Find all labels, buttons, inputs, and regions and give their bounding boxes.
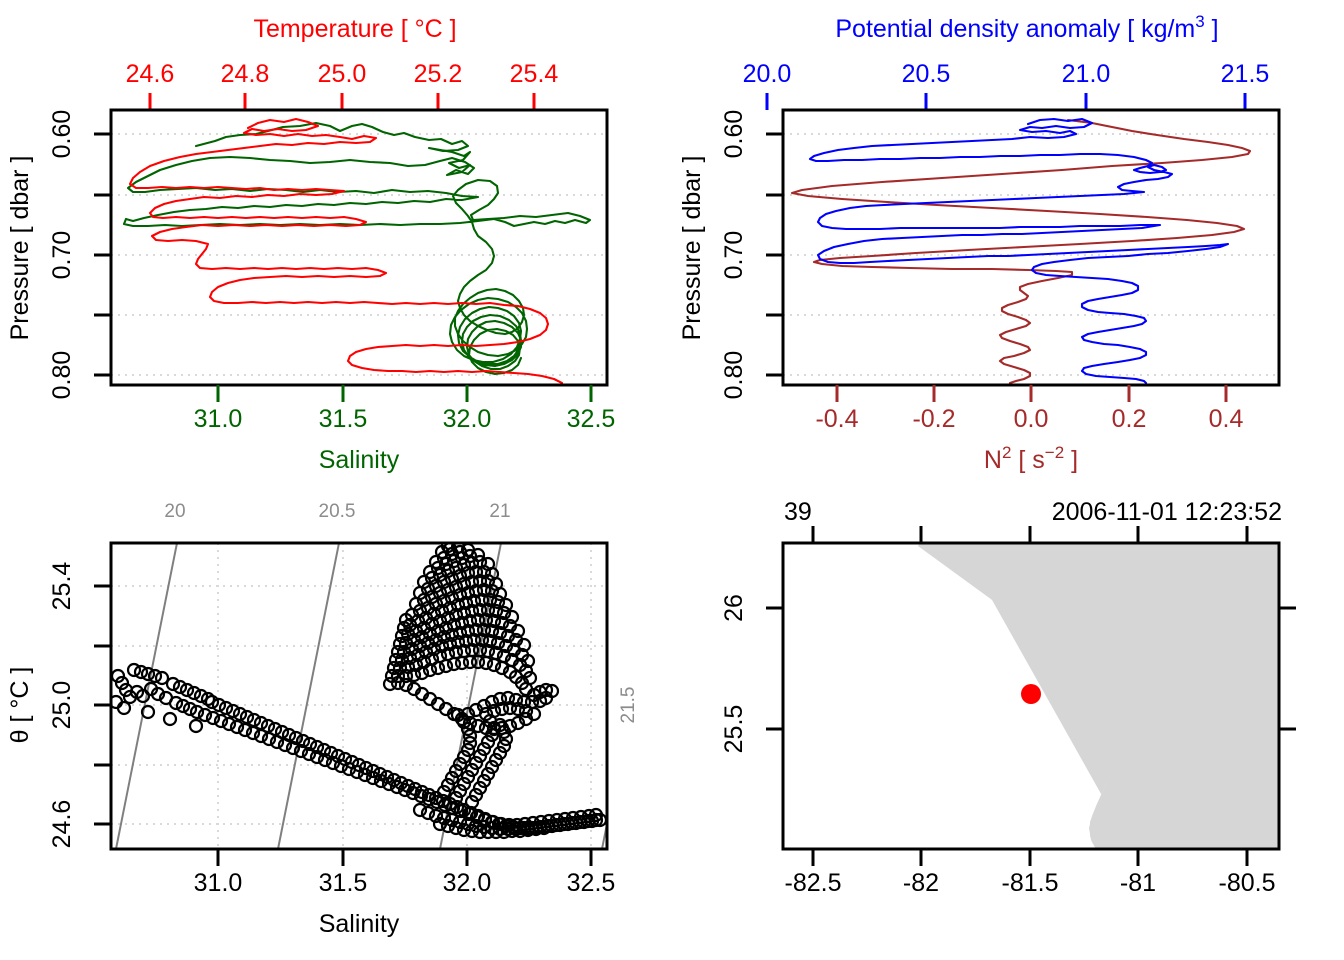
panel-station-map: 39 2006-11-01 12:23:52 26 25.5: [672, 480, 1344, 960]
tick-label: 24.6: [48, 800, 76, 849]
density-axis-title: Potential density anomaly [ kg/m3 ]: [835, 12, 1218, 43]
pressure-tickmarks: [766, 134, 783, 375]
tick-label: 21.5: [1221, 60, 1270, 88]
tick-label: 24.8: [221, 60, 270, 88]
tick-label: 0.70: [48, 231, 76, 280]
n2-axis-title: N2 [ s−2 ]: [984, 443, 1078, 474]
panel-ts-diagram: 20 20.5 21 21.5 θ [ °C ] 25.4 25.0 24.6: [0, 480, 672, 960]
tick-label: 0.60: [720, 110, 748, 159]
salinity-tick-labels: 31.0 31.5 32.0 32.5: [194, 405, 616, 433]
n2-axis-title-superscript-2: −2: [1045, 443, 1064, 462]
pressure-tickmarks: [94, 134, 111, 375]
tick-label: 25.5: [720, 705, 748, 754]
tick-label: -80.5: [1219, 869, 1276, 897]
isopycnal-label: 21: [489, 501, 510, 522]
tick-label: -82: [903, 869, 939, 897]
tick-label: 20.0: [743, 60, 792, 88]
longitude-top-tickmarks: [813, 526, 1247, 543]
density-tickmarks: [767, 93, 1245, 110]
tick-label: -0.2: [912, 405, 955, 433]
tick-label: -81: [1120, 869, 1156, 897]
tick-label: -0.4: [815, 405, 858, 433]
tick-label: 0.80: [48, 351, 76, 400]
tick-label: 0.60: [48, 110, 76, 159]
tick-label: 0.4: [1209, 405, 1244, 433]
tick-label: 0.0: [1014, 405, 1049, 433]
tick-label: 20.5: [902, 60, 951, 88]
longitude-tick-labels: -82.5 -82 -81.5 -81 -80.5: [785, 869, 1276, 897]
tick-label: 31.0: [194, 869, 243, 897]
tick-label: 0.2: [1112, 405, 1147, 433]
tick-label: 25.2: [414, 60, 463, 88]
n2-axis-title-mid: [ s: [1011, 446, 1044, 474]
station-marker-dot: [1021, 684, 1041, 704]
tick-label: -81.5: [1002, 869, 1059, 897]
tick-label: 24.6: [126, 60, 175, 88]
tick-label: 0.80: [720, 351, 748, 400]
tick-label: 32.0: [443, 405, 492, 433]
salinity-trace: [124, 123, 590, 374]
theta-tick-labels: 25.4 25.0 24.6: [48, 562, 76, 849]
tick-label: 26: [720, 594, 748, 622]
temperature-tickmarks: [150, 93, 534, 110]
latitude-tick-labels: 26 25.5: [720, 594, 748, 753]
temperature-axis-title: Temperature [ °C ]: [253, 15, 456, 43]
station-number-label: 39: [784, 498, 812, 526]
salinity-axis-title: Salinity: [319, 910, 400, 938]
pressure-axis-title: Pressure [ dbar ]: [6, 156, 34, 341]
ts-scatter-points: [110, 540, 606, 838]
tick-label: 25.0: [48, 681, 76, 730]
tick-label: 25.0: [318, 60, 367, 88]
n2-axis-title-tail: ]: [1064, 446, 1078, 474]
tick-label: 32.5: [567, 869, 616, 897]
density-axis-title-main: Potential density anomaly [ kg/m: [835, 15, 1195, 43]
tick-label: 0.70: [720, 231, 748, 280]
n2-axis-title-superscript: 2: [1002, 443, 1011, 462]
salinity-tickmarks: [218, 385, 591, 402]
ctd-summary-figure: Temperature [ °C ] 24.6 24.8 25.0 25.2 2…: [0, 0, 1344, 960]
tick-label: 31.0: [194, 405, 243, 433]
density-axis-title-superscript: 3: [1195, 12, 1204, 31]
pressure-tick-labels: 0.60 0.70 0.80: [48, 110, 76, 400]
tick-label: 21.0: [1062, 60, 1111, 88]
isopycnal-label: 20: [164, 501, 185, 522]
pressure-tick-labels: 0.60 0.70 0.80: [720, 110, 748, 400]
isopycnal-20-5: [278, 543, 339, 849]
longitude-tickmarks: [813, 849, 1247, 866]
n2-tickmarks: [837, 385, 1226, 402]
temperature-tick-labels: 24.6 24.8 25.0 25.2 25.4: [126, 60, 559, 88]
salinity-axis-title: Salinity: [319, 446, 400, 474]
density-axis-title-tail: ]: [1205, 15, 1219, 43]
panel-temperature-salinity-profile: Temperature [ °C ] 24.6 24.8 25.0 25.2 2…: [0, 0, 672, 480]
density-tick-labels: 20.0 20.5 21.0 21.5: [743, 60, 1270, 88]
isopycnal-label: 20.5: [319, 501, 356, 522]
tick-label: 32.0: [443, 869, 492, 897]
salinity-tickmarks: [218, 849, 591, 866]
plot-box: [111, 110, 607, 385]
tick-label: 31.5: [319, 405, 368, 433]
tick-label: 31.5: [319, 869, 368, 897]
isopycnal-label: 21.5: [618, 687, 639, 724]
tick-label: 25.4: [510, 60, 559, 88]
n2-tick-labels: -0.4 -0.2 0.0 0.2 0.4: [815, 405, 1243, 433]
timestamp-label: 2006-11-01 12:23:52: [1052, 498, 1282, 526]
n2-axis-title-main: N: [984, 446, 1002, 474]
theta-axis-title: θ [ °C ]: [6, 667, 34, 744]
panel-density-n2-profile: Potential density anomaly [ kg/m3 ] 20.0…: [672, 0, 1344, 480]
tick-label: -82.5: [785, 869, 842, 897]
tick-label: 25.4: [48, 562, 76, 611]
pressure-axis-title: Pressure [ dbar ]: [678, 156, 706, 341]
tick-label: 32.5: [567, 405, 616, 433]
theta-tickmarks: [94, 586, 111, 824]
salinity-tick-labels: 31.0 31.5 32.0 32.5: [194, 869, 616, 897]
